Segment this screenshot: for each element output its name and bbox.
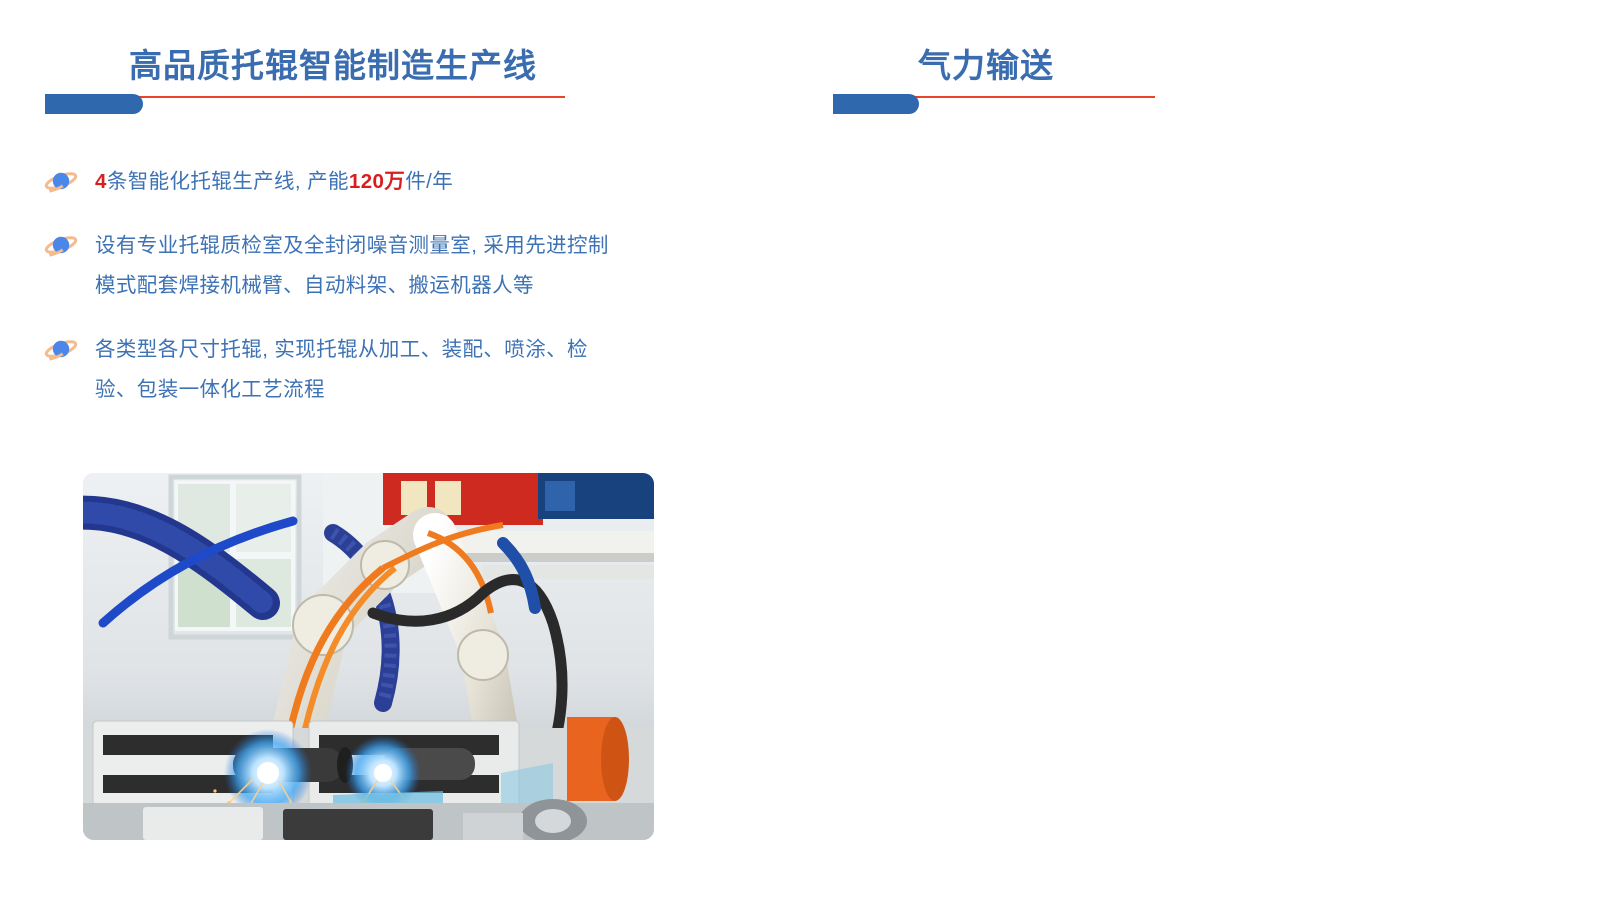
list-item: 设有专业托辊质检室及全封闭噪音测量室, 采用先进控制模式配套焊接机械臂、自动料架… [44,226,624,306]
right-heading-blue-bar [833,94,919,114]
list-item: 4条智能化托辊生产线, 产能120万件/年 [44,162,624,202]
list-item-text: 设有专业托辊质检室及全封闭噪音测量室, 采用先进控制模式配套焊接机械臂、自动料架… [95,234,609,297]
highlighted-text-run: 120万 [349,170,405,193]
slide-root: 高品质托辊智能制造生产线 4条智能化托辊生产线, 产能120万件/年 [0,0,1600,900]
saturn-planet-icon [44,232,80,258]
left-photo-robotic-welding-line [83,473,654,840]
left-heading-text: 高品质托辊智能制造生产线 [45,44,565,88]
text-run: 各类型各尺寸托辊, 实现托辊从加工、装配、喷涂、检验、包装一体化工艺流程 [95,338,588,401]
list-item: 各类型各尺寸托辊, 实现托辊从加工、装配、喷涂、检验、包装一体化工艺流程 [44,330,624,410]
list-item-text: 4条智能化托辊生产线, 产能120万件/年 [95,170,453,193]
right-column: 气力输送 研发和应用业绩居行业第一, 应用业绩超过2000台套, 配套电力行业累… [800,0,1600,900]
right-heading-text: 气力输送 [833,44,1133,88]
text-run: 设有专业托辊质检室及全封闭噪音测量室, 采用先进控制模式配套焊接机械臂、自动料架… [95,234,609,297]
left-bullet-list: 4条智能化托辊生产线, 产能120万件/年 设有专业托辊质检室及全封闭噪音测量室… [44,162,624,434]
left-column: 高品质托辊智能制造生产线 4条智能化托辊生产线, 产能120万件/年 [0,0,800,900]
left-heading-blue-bar [45,94,143,114]
text-run: 条智能化托辊生产线, 产能 [107,170,349,193]
saturn-planet-icon [44,336,80,362]
saturn-planet-icon [44,168,80,194]
left-section-heading: 高品质托辊智能制造生产线 [45,44,565,106]
text-run: 件/年 [405,170,453,193]
left-heading-rule [45,90,565,106]
right-section-heading: 气力输送 [833,44,1133,106]
left-heading-red-line [73,96,565,98]
highlighted-text-run: 4 [95,170,107,193]
list-item-text: 各类型各尺寸托辊, 实现托辊从加工、装配、喷涂、检验、包装一体化工艺流程 [95,338,588,401]
right-heading-rule [833,90,1133,106]
